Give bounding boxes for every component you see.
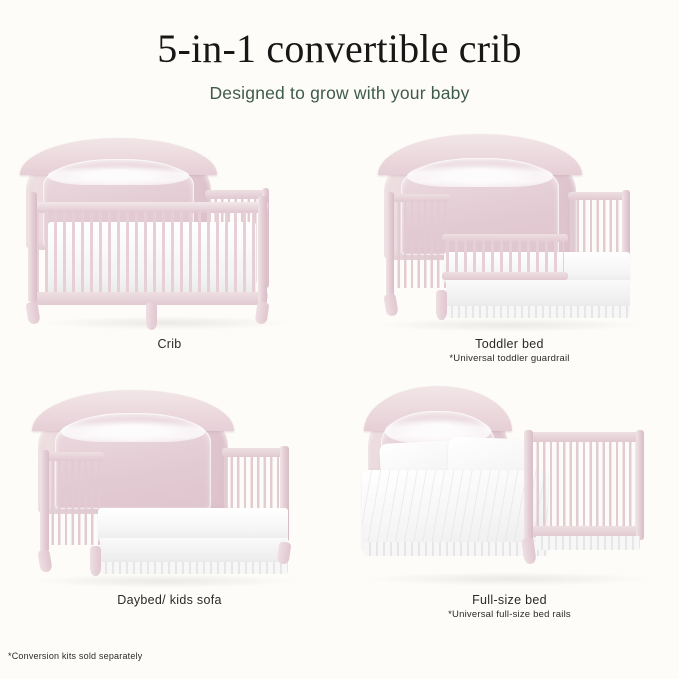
headboard-scrollwork-icon: [48, 164, 189, 186]
left-arm-post: [40, 450, 49, 552]
caption-full-size-bed: Full-size bed *Universal full-size bed r…: [340, 592, 679, 621]
mattress: [98, 508, 288, 542]
duvet: [362, 470, 548, 550]
floor-shadow: [364, 572, 654, 586]
leg-right: [277, 541, 292, 564]
footboard-right-post: [636, 430, 644, 540]
footboard-left-post: [524, 430, 533, 542]
configuration-card-toddler-bed: Toddler bed *Universal toddler guardrail: [340, 130, 679, 385]
page-subtitle: Designed to grow with your baby: [0, 82, 679, 104]
front-slats: [36, 212, 262, 294]
page-title: 5-in-1 convertible crib: [0, 26, 679, 72]
configuration-grid: Crib: [0, 130, 679, 640]
caption-note: *Universal toddler guardrail: [340, 352, 679, 365]
leg-left: [383, 293, 398, 317]
toddler-guardrail-slats: [446, 240, 564, 274]
toddler-bed-illustration: [340, 130, 679, 335]
footboard-slats: [530, 442, 640, 528]
duvet-ruffle: [364, 542, 548, 556]
caption-toddler-bed: Toddler bed *Universal toddler guardrail: [340, 336, 679, 365]
bed-skirt-ruffle: [100, 562, 288, 574]
configuration-card-crib: Crib: [0, 130, 339, 385]
footboard-top-rail: [526, 432, 642, 442]
caption-label: Toddler bed: [340, 336, 679, 352]
left-post: [386, 192, 394, 296]
leg-left: [37, 549, 52, 573]
floor-shadow: [30, 574, 298, 588]
leg-center: [436, 290, 447, 320]
footer-disclaimer: *Conversion kits sold separately: [8, 651, 142, 661]
left-arm-slats: [45, 459, 103, 545]
caption-crib: Crib: [0, 336, 339, 352]
leg-center: [146, 302, 157, 330]
caption-note: *Universal full-size bed rails: [340, 608, 679, 621]
caption-label: Full-size bed: [340, 592, 679, 608]
daybed-illustration: [0, 386, 339, 591]
headboard-scrollwork-icon: [407, 162, 553, 186]
page-header: 5-in-1 convertible crib Designed to grow…: [0, 0, 679, 104]
front-left-post: [28, 192, 37, 302]
crib-illustration: [0, 130, 339, 335]
headboard-scrollwork-icon: [61, 418, 205, 442]
floor-shadow: [374, 318, 644, 332]
front-right-post: [258, 196, 267, 304]
bed-skirt-ruffle: [446, 306, 630, 318]
caption-daybed: Daybed/ kids sofa: [0, 592, 339, 608]
caption-label: Daybed/ kids sofa: [0, 592, 339, 608]
toddler-guardrail-bottom: [442, 272, 568, 280]
configuration-card-full-size-bed: Full-size bed *Universal full-size bed r…: [340, 386, 679, 641]
footboard-skirt-ruffle: [536, 536, 640, 550]
left-slats: [391, 200, 449, 288]
duvet-texture: [362, 470, 548, 550]
caption-label: Crib: [0, 336, 339, 352]
leg-center: [90, 546, 101, 576]
configuration-card-daybed: Daybed/ kids sofa: [0, 386, 339, 641]
full-size-bed-illustration: [340, 386, 679, 591]
